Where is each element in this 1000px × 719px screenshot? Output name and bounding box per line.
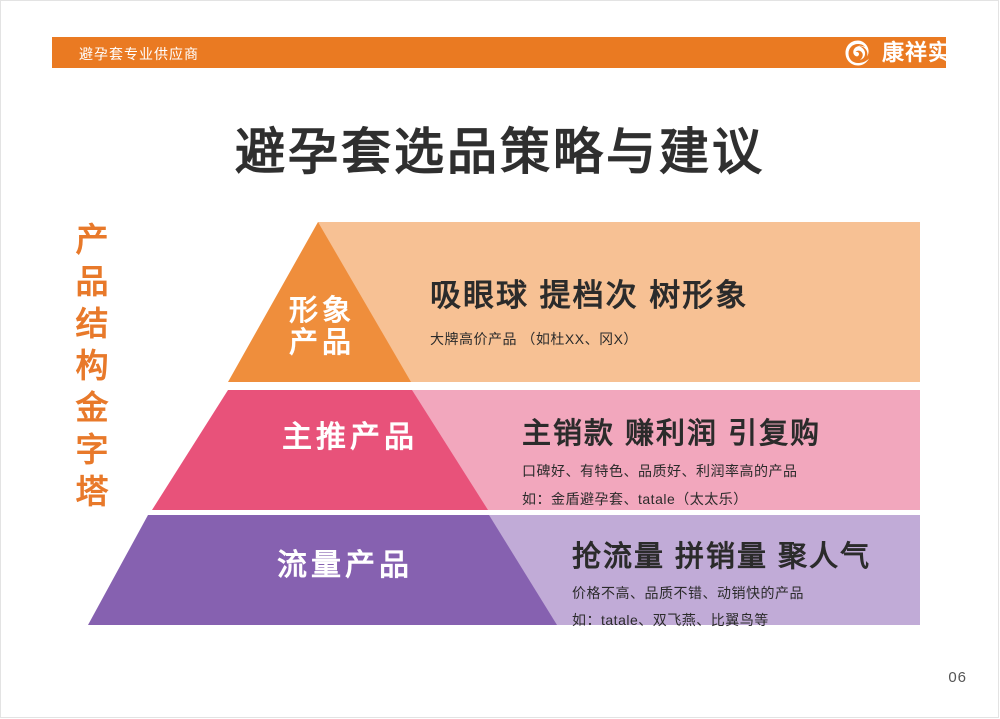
- page-number: 06: [948, 669, 967, 686]
- tier-2-subtext-1: 口碑好、有特色、品质好、利润率高的产品: [522, 461, 821, 481]
- tier-3-headline: 抢流量 拼销量 聚人气: [572, 533, 871, 575]
- tier-3-body: 抢流量 拼销量 聚人气 价格不高、品质不错、动销快的产品 如：tatale、双飞…: [572, 533, 871, 630]
- tier-2-body: 主销款 赚利润 引复购 口碑好、有特色、品质好、利润率高的产品 如：金盾避孕套、…: [522, 410, 821, 509]
- tier-3-subtext-2: 如：tatale、双飞燕、比翼鸟等: [572, 610, 871, 630]
- tier-3-label: 流量产品: [235, 549, 455, 583]
- tier-2-headline: 主销款 赚利润 引复购: [522, 410, 821, 452]
- product-structure-pyramid: 形象 产品 主推产品 流量产品 吸眼球 提档次 树形象 大牌高价产品 （如杜XX…: [0, 0, 1000, 719]
- slide-canvas: 避孕套专业供应商 康祥实业 避孕套选品策略与建议 产品结构金字塔 形象 产品 主…: [0, 0, 1000, 719]
- tier-1-label: 形象 产品: [262, 295, 382, 360]
- tier-3-subtext-1: 价格不高、品质不错、动销快的产品: [572, 583, 871, 603]
- tier-1-body: 吸眼球 提档次 树形象 大牌高价产品 （如杜XX、冈X）: [430, 270, 748, 349]
- tier-2-label: 主推产品: [240, 421, 460, 455]
- tier-1-headline: 吸眼球 提档次 树形象: [430, 270, 748, 315]
- tier-2-subtext-2: 如：金盾避孕套、tatale（太太乐）: [522, 489, 821, 509]
- tier-1-subtext-1: 大牌高价产品 （如杜XX、冈X）: [430, 329, 748, 349]
